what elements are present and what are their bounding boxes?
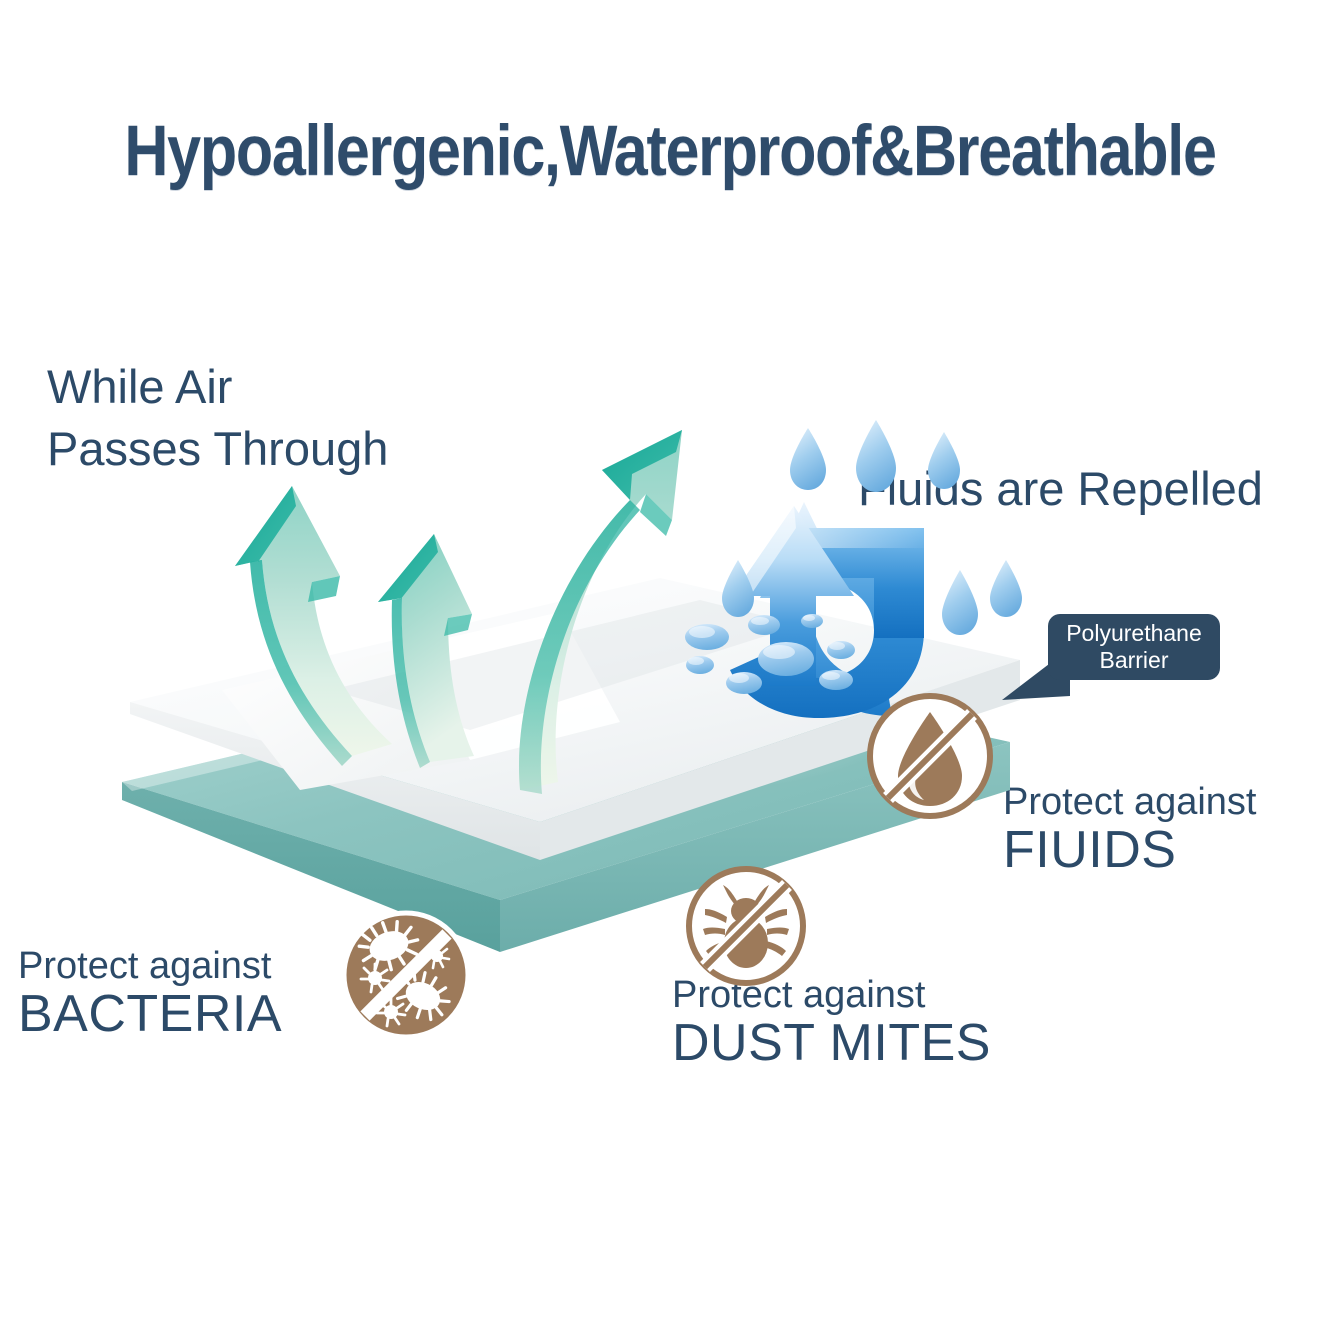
no-fluids-icon (862, 688, 998, 824)
no-dust-mite-icon (681, 861, 811, 991)
polyurethane-barrier-callout: Polyurethane Barrier (1048, 614, 1220, 680)
no-bacteria-icon (339, 908, 473, 1042)
callout-line-2: Barrier (1048, 647, 1220, 674)
infographic-canvas: Hypoallergenic,Waterproof&Breathable (0, 0, 1340, 1340)
callout-line-1: Polyurethane (1048, 620, 1220, 647)
